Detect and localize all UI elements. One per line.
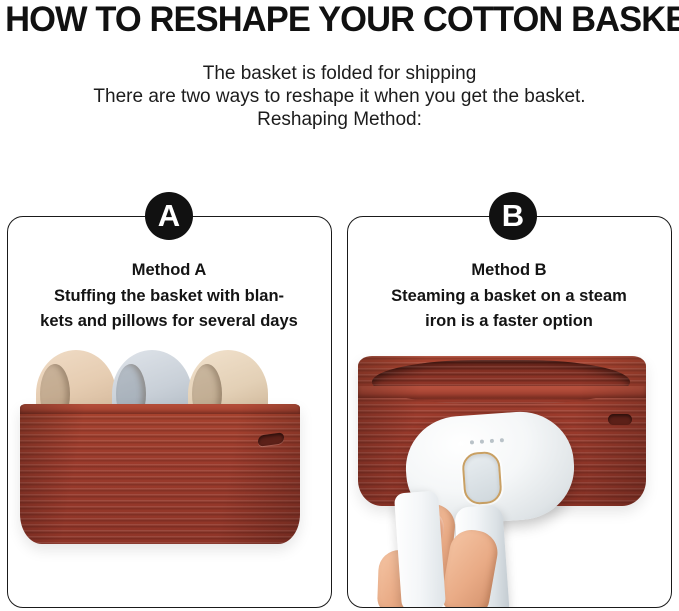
basket-handle-cutout bbox=[608, 414, 632, 425]
method-a-line-1: Stuffing the basket with blan- bbox=[14, 284, 324, 310]
basket-shading bbox=[20, 404, 300, 544]
basket-with-blankets-illustration bbox=[8, 342, 331, 607]
subtitle-line-2: There are two ways to reshape it when yo… bbox=[0, 85, 679, 108]
page-title: HOW TO RESHAPE YOUR COTTON BASKET bbox=[5, 0, 674, 40]
method-b-photo bbox=[348, 342, 671, 607]
subtitle-line-3: Reshaping Method: bbox=[0, 108, 679, 131]
steamer-dot bbox=[480, 439, 484, 443]
method-b-line-2: iron is a faster option bbox=[354, 309, 664, 335]
method-badge-a: A bbox=[145, 192, 193, 240]
method-b-text: Method B Steaming a basket on a steam ir… bbox=[354, 258, 664, 335]
cotton-rope-basket-filled bbox=[20, 404, 300, 544]
method-a-line-2: kets and pillows for several days bbox=[14, 309, 324, 335]
method-badge-b: B bbox=[489, 192, 537, 240]
method-card-a: Method A Stuffing the basket with blan- … bbox=[7, 216, 332, 608]
steamer-dot bbox=[500, 438, 504, 442]
steamer-handle-front bbox=[394, 491, 446, 607]
method-a-photo bbox=[8, 342, 331, 607]
method-a-heading: Method A bbox=[14, 258, 324, 284]
page-subtitle: The basket is folded for shipping There … bbox=[0, 62, 679, 131]
subtitle-line-1: The basket is folded for shipping bbox=[0, 62, 679, 85]
method-a-text: Method A Stuffing the basket with blan- … bbox=[14, 258, 324, 335]
basket-with-steamer-illustration bbox=[348, 342, 671, 607]
method-b-heading: Method B bbox=[354, 258, 664, 284]
method-card-b: Method B Steaming a basket on a steam ir… bbox=[347, 216, 672, 608]
steamer-dot bbox=[470, 440, 474, 444]
steamer-dot bbox=[490, 439, 494, 443]
infographic-page: HOW TO RESHAPE YOUR COTTON BASKET The ba… bbox=[0, 0, 679, 611]
method-b-line-1: Steaming a basket on a steam bbox=[354, 284, 664, 310]
